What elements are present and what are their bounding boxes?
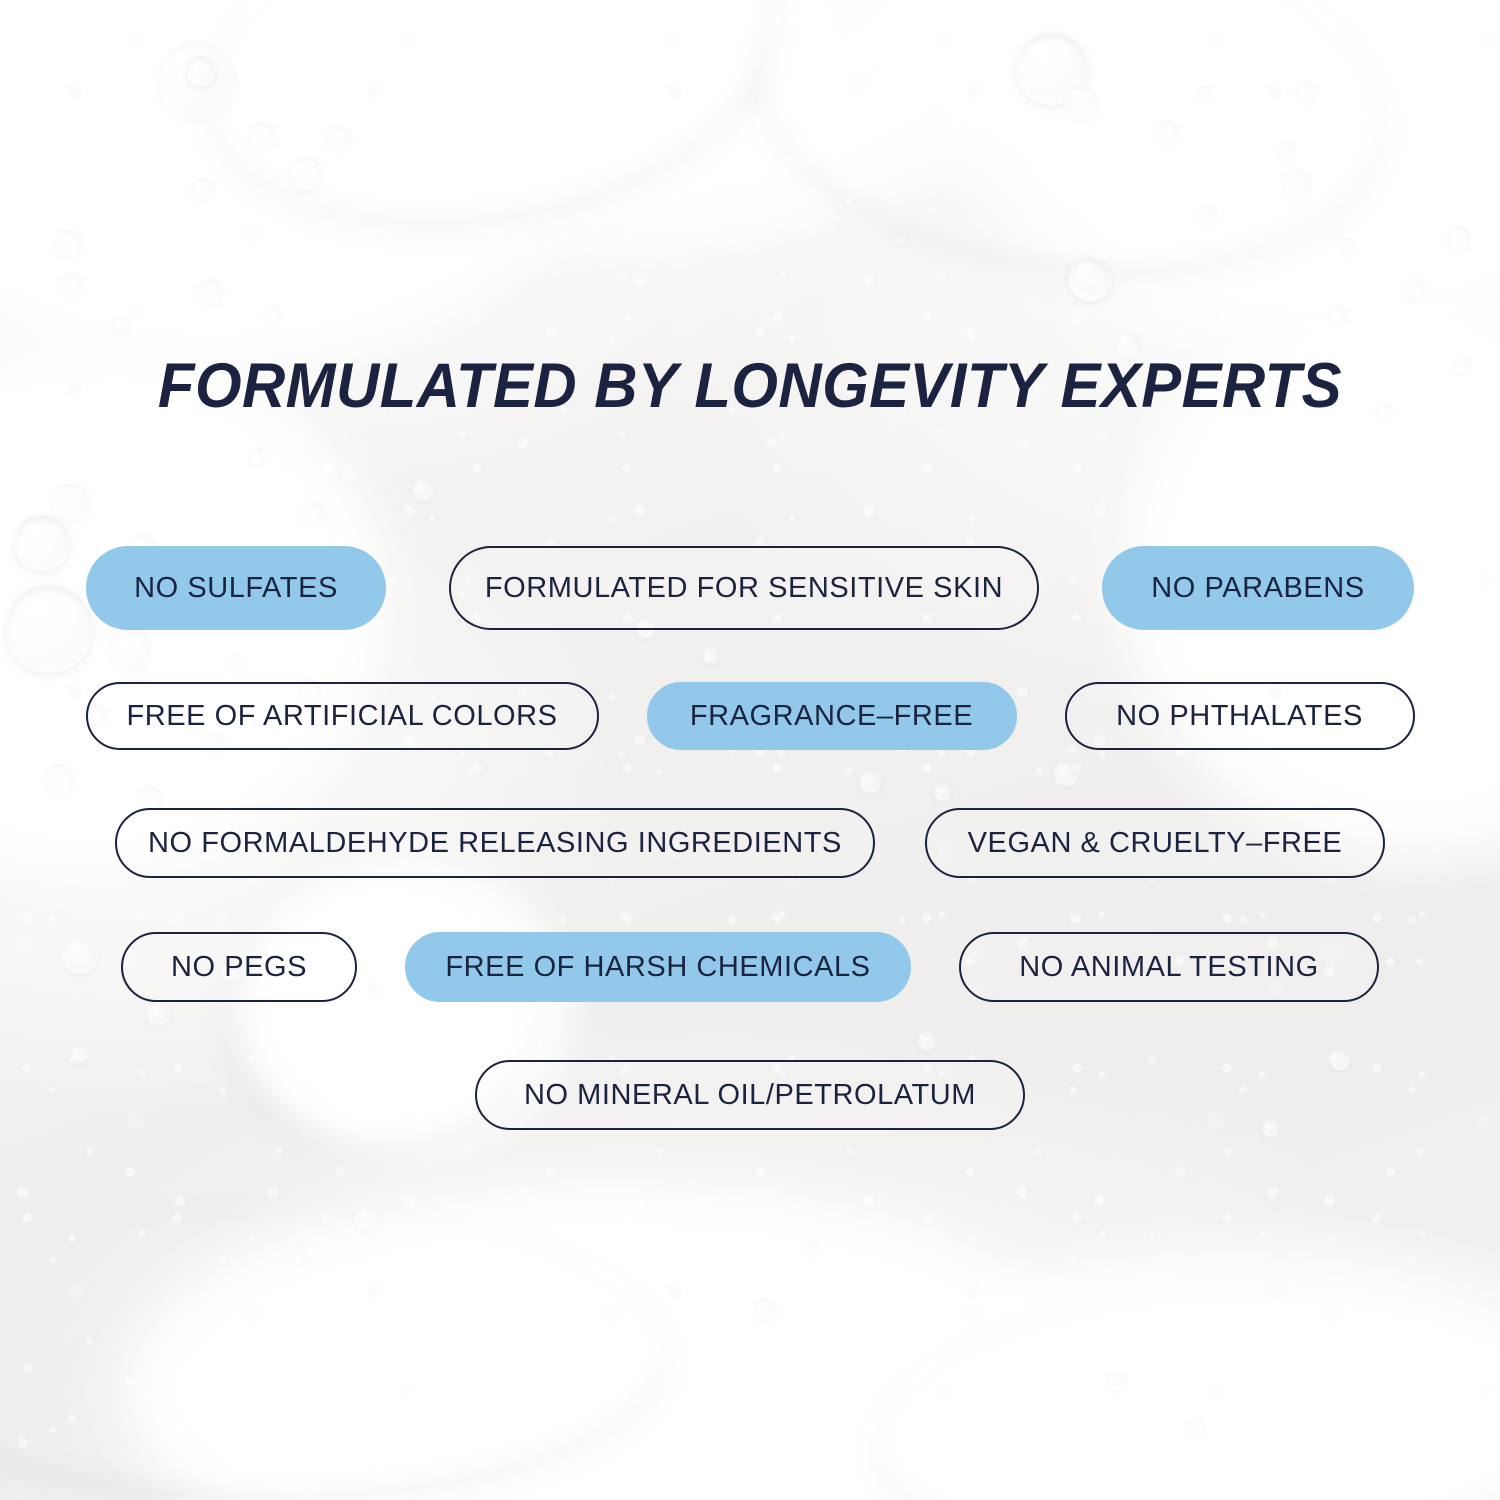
poster-canvas: FORMULATED BY LONGEVITY EXPERTS NO SULFA… xyxy=(0,0,1500,1500)
claims-badge-row: NO MINERAL OIL/PETROLATUM xyxy=(0,1060,1500,1130)
claims-badge-grid: NO SULFATESFORMULATED FOR SENSITIVE SKIN… xyxy=(0,546,1500,1130)
claim-badge[interactable]: FORMULATED FOR SENSITIVE SKIN xyxy=(449,546,1039,630)
claim-badge[interactable]: FREE OF ARTIFICIAL COLORS xyxy=(86,682,599,750)
claim-badge[interactable]: NO MINERAL OIL/PETROLATUM xyxy=(475,1060,1025,1130)
page-title: FORMULATED BY LONGEVITY EXPERTS xyxy=(38,355,1463,418)
claim-badge[interactable]: NO PEGS xyxy=(121,932,357,1002)
claim-badge[interactable]: VEGAN & CRUELTY–FREE xyxy=(925,808,1385,878)
claim-badge[interactable]: FREE OF HARSH CHEMICALS xyxy=(405,932,911,1002)
claim-badge[interactable]: NO FORMALDEHYDE RELEASING INGREDIENTS xyxy=(115,808,875,878)
claim-badge[interactable]: FRAGRANCE–FREE xyxy=(647,682,1017,750)
claims-badge-row: NO PEGSFREE OF HARSH CHEMICALSNO ANIMAL … xyxy=(0,932,1500,1002)
claims-badge-row: NO FORMALDEHYDE RELEASING INGREDIENTSVEG… xyxy=(0,808,1500,878)
claim-badge[interactable]: NO SULFATES xyxy=(86,546,386,630)
claim-badge[interactable]: NO ANIMAL TESTING xyxy=(959,932,1379,1002)
poster-content: FORMULATED BY LONGEVITY EXPERTS NO SULFA… xyxy=(0,0,1500,1500)
claims-badge-row: NO SULFATESFORMULATED FOR SENSITIVE SKIN… xyxy=(0,546,1500,630)
claim-badge[interactable]: NO PARABENS xyxy=(1102,546,1414,630)
claim-badge[interactable]: NO PHTHALATES xyxy=(1065,682,1415,750)
claims-badge-row: FREE OF ARTIFICIAL COLORSFRAGRANCE–FREEN… xyxy=(0,682,1500,750)
